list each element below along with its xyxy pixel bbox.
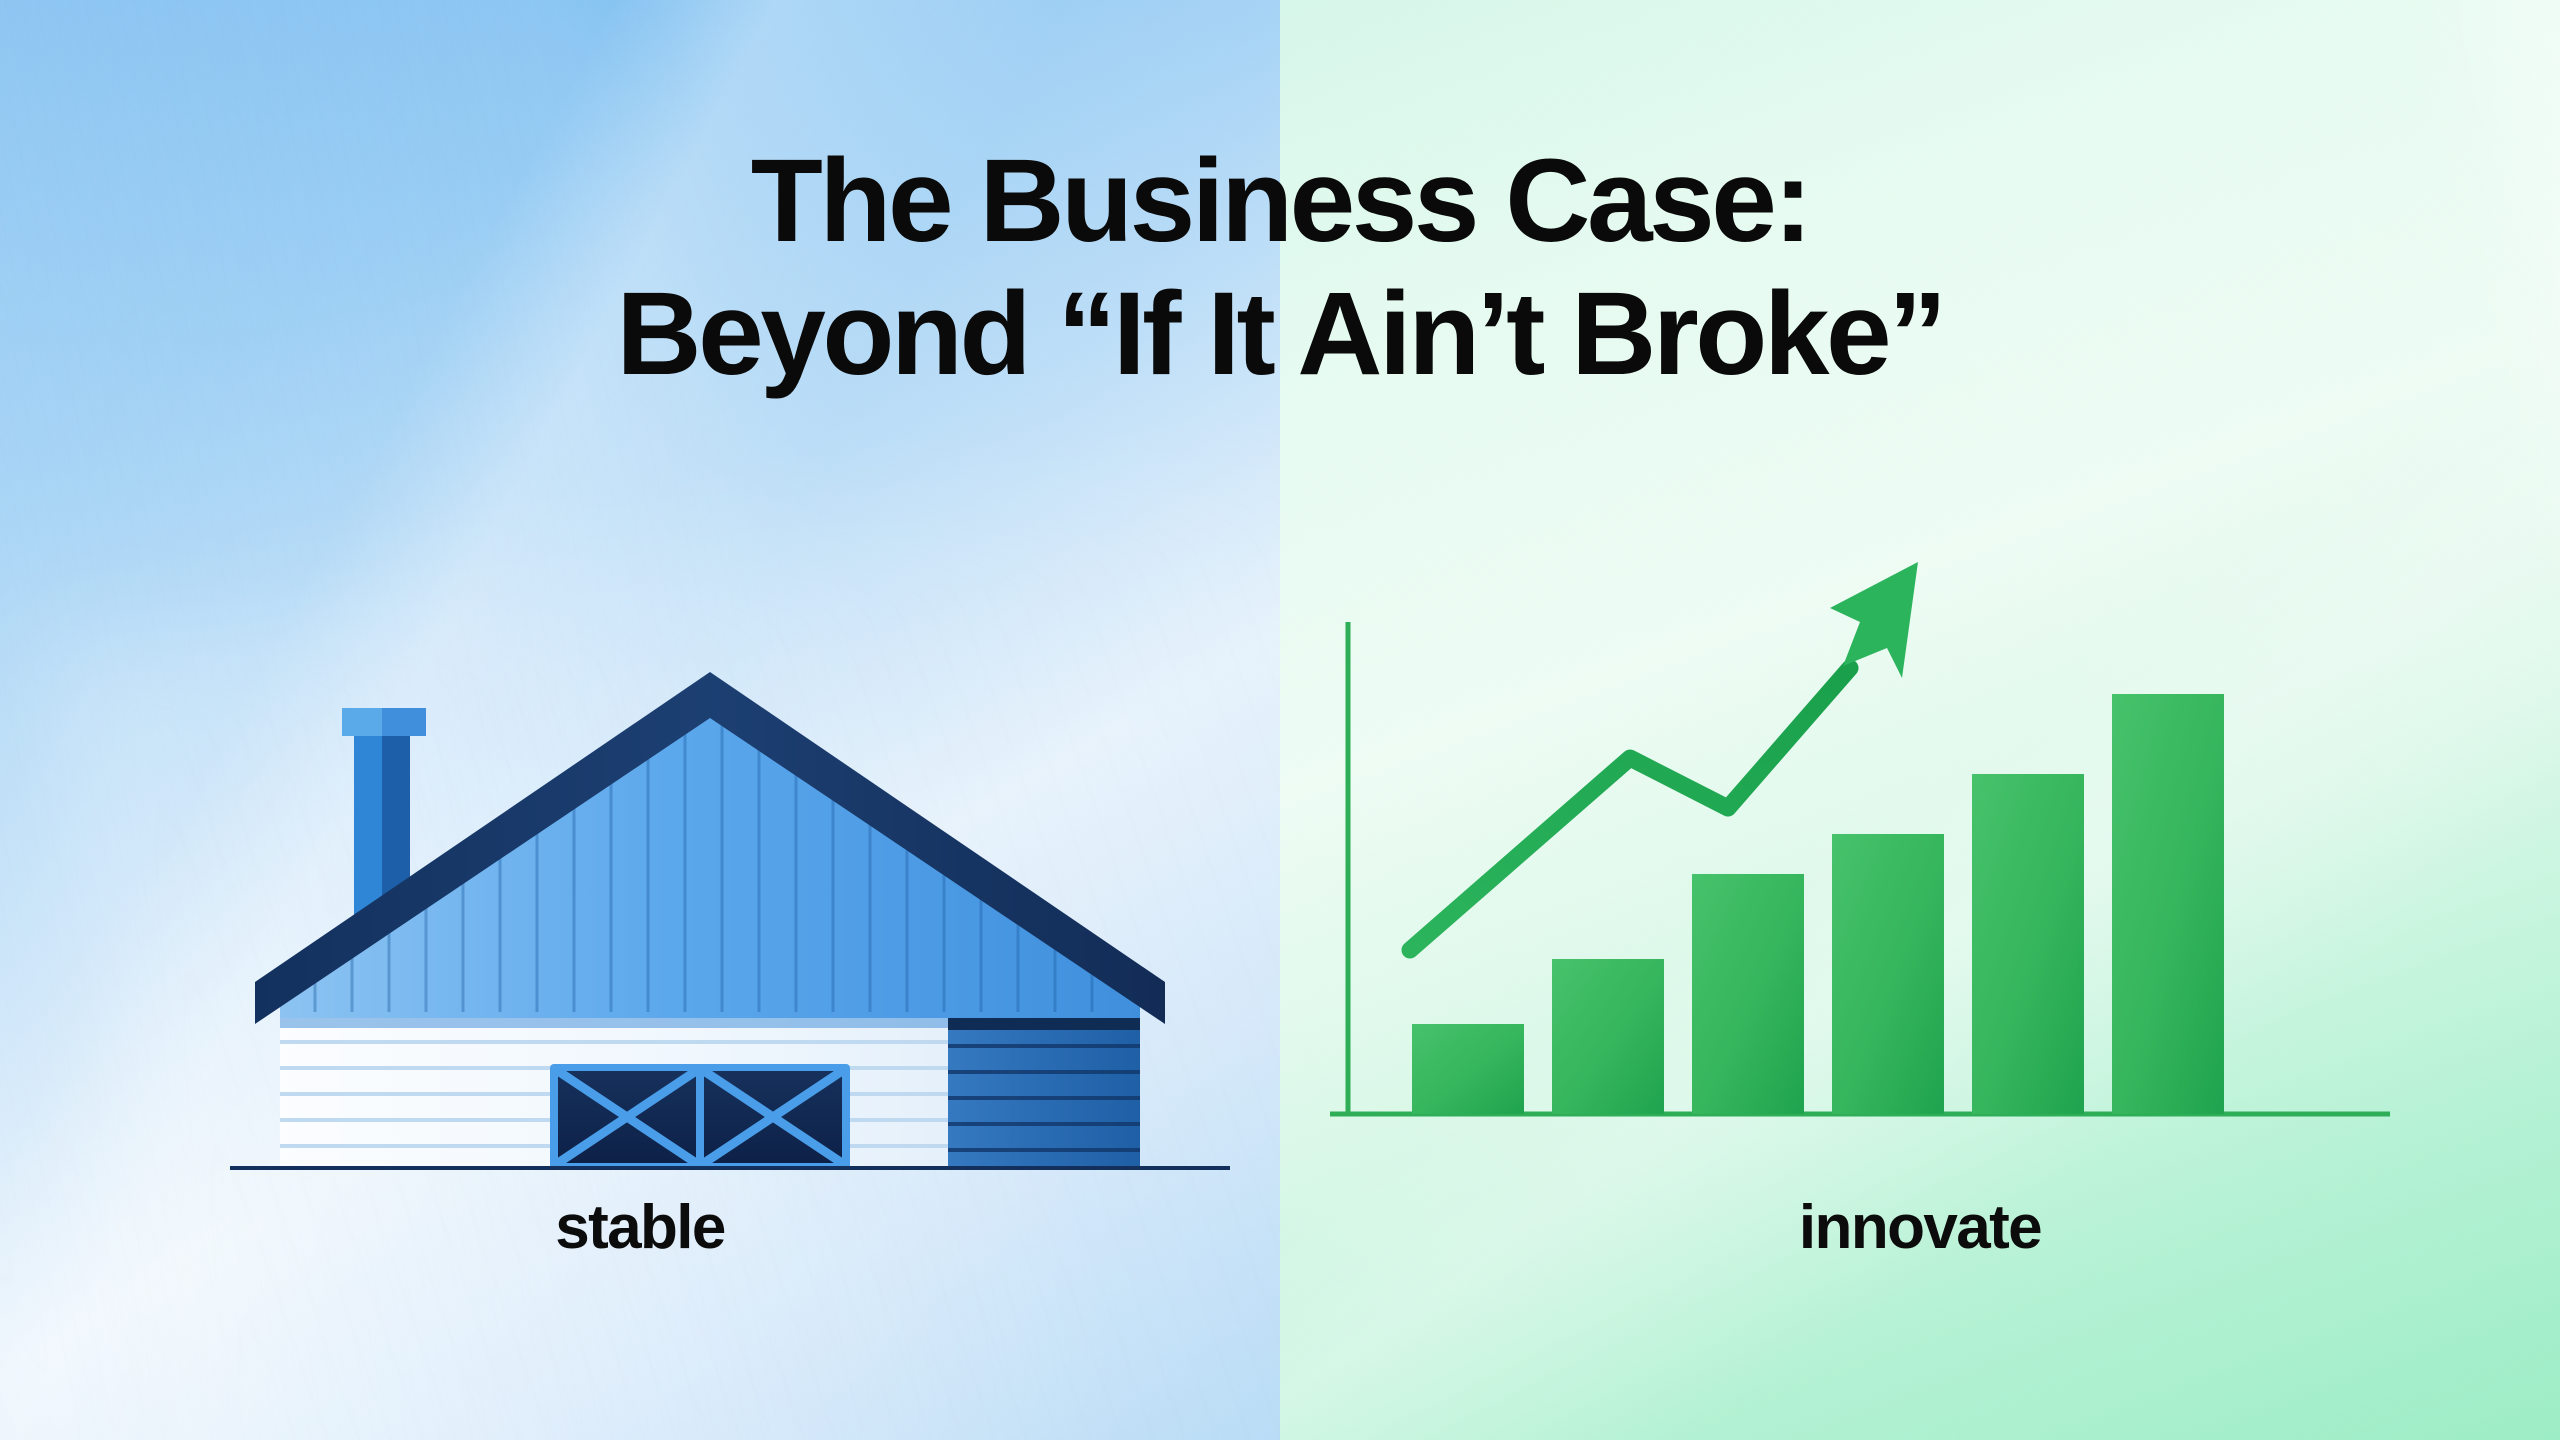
chart-bars xyxy=(1412,694,2224,1114)
barn-building-icon xyxy=(230,660,1230,1170)
right-light-sweep-2 xyxy=(2462,0,2560,1025)
barn-door-panel-right xyxy=(704,1071,842,1163)
bar-4 xyxy=(1832,834,1944,1114)
bar-5 xyxy=(1972,774,2084,1114)
ground-line xyxy=(230,1166,1230,1170)
bar-6 xyxy=(2112,694,2224,1114)
bar-2 xyxy=(1552,959,1664,1114)
bar-1 xyxy=(1412,1024,1524,1114)
barn-door xyxy=(550,1064,850,1170)
right-panel-caption: innovate xyxy=(1280,1192,2560,1263)
barn-side-wall xyxy=(948,1018,1140,1170)
growth-bar-chart-icon xyxy=(1330,500,2390,1170)
left-panel-caption: stable xyxy=(0,1192,1280,1263)
poster-canvas: The Business Case: Beyond “If It Ain’t B… xyxy=(0,0,2560,1440)
bar-3 xyxy=(1692,874,1804,1114)
barn-door-panel-left xyxy=(558,1071,696,1163)
